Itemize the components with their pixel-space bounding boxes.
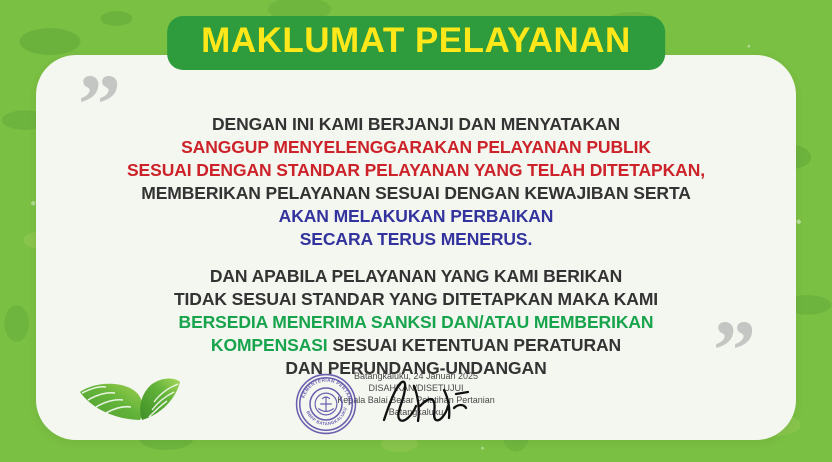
declaration-segment: KOMPENSASI <box>211 335 332 355</box>
declaration-line: SECARA TERUS MENERUS. <box>36 228 796 251</box>
declaration-line: SANGGUP MENYELENGGARAKAN PELAYANAN PUBLI… <box>36 136 796 159</box>
green-leaf-logo-icon <box>70 368 190 426</box>
declaration-line-mixed: KOMPENSASI SESUAI KETENTUAN PERATURAN <box>36 334 796 357</box>
declaration-line: TIDAK SESUAI STANDAR YANG DITETAPKAN MAK… <box>36 288 796 311</box>
page-title: MAKLUMAT PELAYANAN <box>201 23 631 60</box>
declaration-paragraph-2: DAN APABILA PELAYANAN YANG KAMI BERIKAN … <box>36 265 796 380</box>
declaration-paragraph-1: DENGAN INI KAMI BERJANJI DAN MENYATAKAN … <box>36 113 796 251</box>
declaration-line: SESUAI DENGAN STANDAR PELAYANAN YANG TEL… <box>36 159 796 182</box>
maklumat-pelayanan-poster: ” ” DENGAN INI KAMI BERJANJI DAN MENYATA… <box>0 0 832 462</box>
declaration-line: DENGAN INI KAMI BERJANJI DAN MENYATAKAN <box>36 113 796 136</box>
declaration-body: DENGAN INI KAMI BERJANJI DAN MENYATAKAN … <box>36 113 796 380</box>
signature-block: Batangkaluku, 24 Januari 2025 DISAHKAN/D… <box>266 370 566 440</box>
title-banner: MAKLUMAT PELAYANAN <box>167 16 665 70</box>
handwritten-signature <box>376 376 476 428</box>
declaration-line: AKAN MELAKUKAN PERBAIKAN <box>36 205 796 228</box>
declaration-line: BERSEDIA MENERIMA SANKSI DAN/ATAU MEMBER… <box>36 311 796 334</box>
content-card: ” ” DENGAN INI KAMI BERJANJI DAN MENYATA… <box>36 55 796 440</box>
declaration-segment: SESUAI KETENTUAN PERATURAN <box>332 335 621 355</box>
signature-name: Dr. Ir. Jamaluddin Al Afgani, S.Pd., MP. <box>266 438 566 440</box>
declaration-line: MEMBERIKAN PELAYANAN SESUAI DENGAN KEWAJ… <box>36 182 796 205</box>
declaration-line: DAN APABILA PELAYANAN YANG KAMI BERIKAN <box>36 265 796 288</box>
official-stamp-icon: KEMENTERIAN PERTANIAN BBPP BATANGKALUKU <box>294 372 358 436</box>
